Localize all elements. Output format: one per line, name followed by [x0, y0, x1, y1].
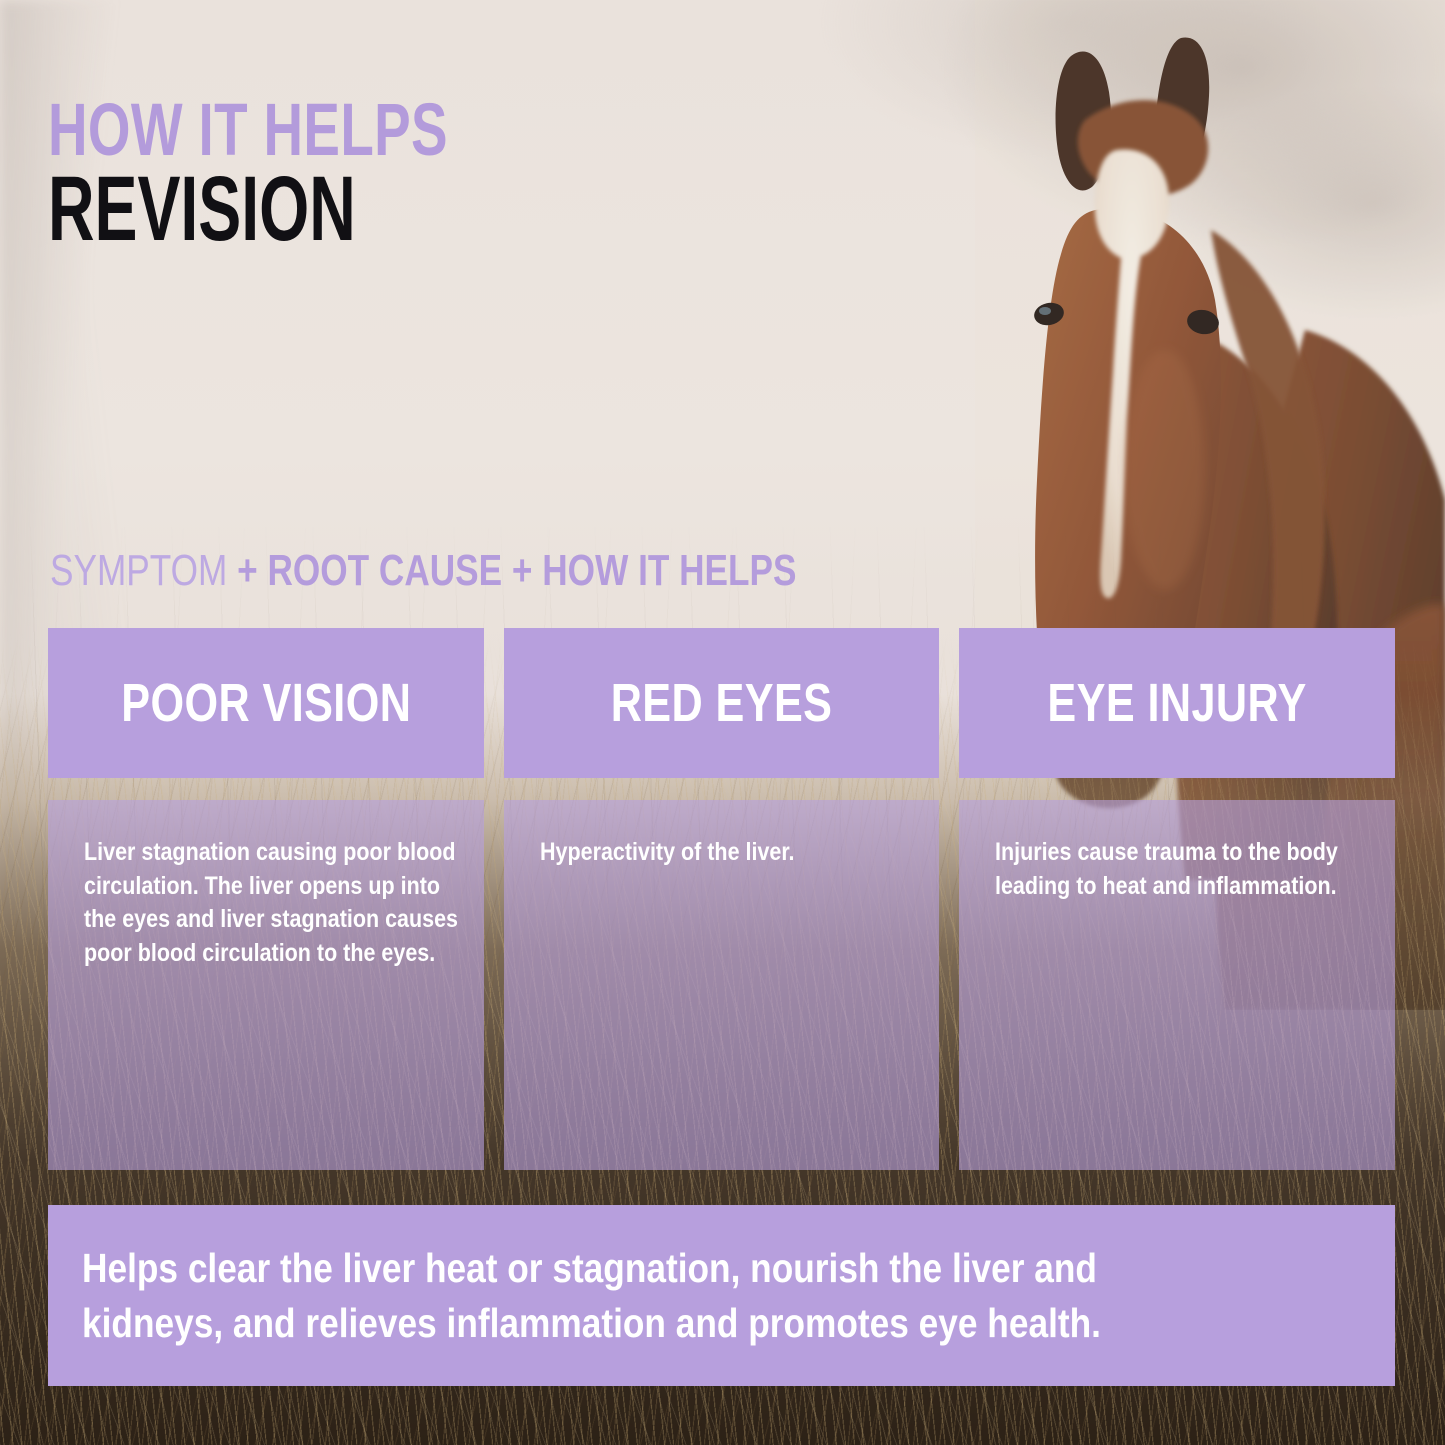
column-eye-injury: EYE INJURY Injuries cause trauma to the …	[959, 628, 1395, 1170]
title-block: HOW IT HELPS REVISION	[48, 96, 588, 253]
column-body-text: Liver stagnation causing poor blood circ…	[84, 836, 459, 970]
eyebrow-sep-2: +	[502, 546, 542, 595]
kicker-text: HOW IT HELPS	[48, 96, 448, 164]
column-body-text: Injuries cause trauma to the body leadin…	[995, 836, 1370, 903]
infographic-canvas: HOW IT HELPS REVISION SYMPTOM + ROOT CAU…	[0, 0, 1445, 1445]
section-eyebrow: SYMPTOM + ROOT CAUSE + HOW IT HELPS	[50, 549, 796, 593]
eyebrow-sep-1: +	[227, 546, 267, 595]
column-heading-label: EYE INJURY	[1048, 676, 1307, 730]
page-title: REVISION	[48, 166, 426, 252]
column-body-3: Injuries cause trauma to the body leadin…	[959, 800, 1395, 1170]
column-body-1: Liver stagnation causing poor blood circ…	[48, 800, 484, 1170]
column-body-text: Hyperactivity of the liver.	[540, 836, 915, 870]
column-body-2: Hyperactivity of the liver.	[504, 800, 940, 1170]
column-heading-label: POOR VISION	[121, 676, 411, 730]
column-header-3: EYE INJURY	[959, 628, 1395, 778]
column-header-1: POOR VISION	[48, 628, 484, 778]
summary-banner-text: Helps clear the liver heat or stagnation…	[82, 1241, 1182, 1349]
column-heading-label: RED EYES	[611, 676, 833, 730]
eyebrow-how-it-helps: HOW IT HELPS	[542, 546, 796, 595]
column-red-eyes: RED EYES Hyperactivity of the liver.	[504, 628, 940, 1170]
eyebrow-root-cause: ROOT CAUSE	[267, 546, 502, 595]
summary-banner: Helps clear the liver heat or stagnation…	[48, 1205, 1395, 1386]
column-header-2: RED EYES	[504, 628, 940, 778]
column-poor-vision: POOR VISION Liver stagnation causing poo…	[48, 628, 484, 1170]
eyebrow-symptom: SYMPTOM	[50, 546, 227, 595]
content-layer: HOW IT HELPS REVISION SYMPTOM + ROOT CAU…	[0, 0, 1445, 1445]
symptom-columns: POOR VISION Liver stagnation causing poo…	[48, 628, 1395, 1170]
